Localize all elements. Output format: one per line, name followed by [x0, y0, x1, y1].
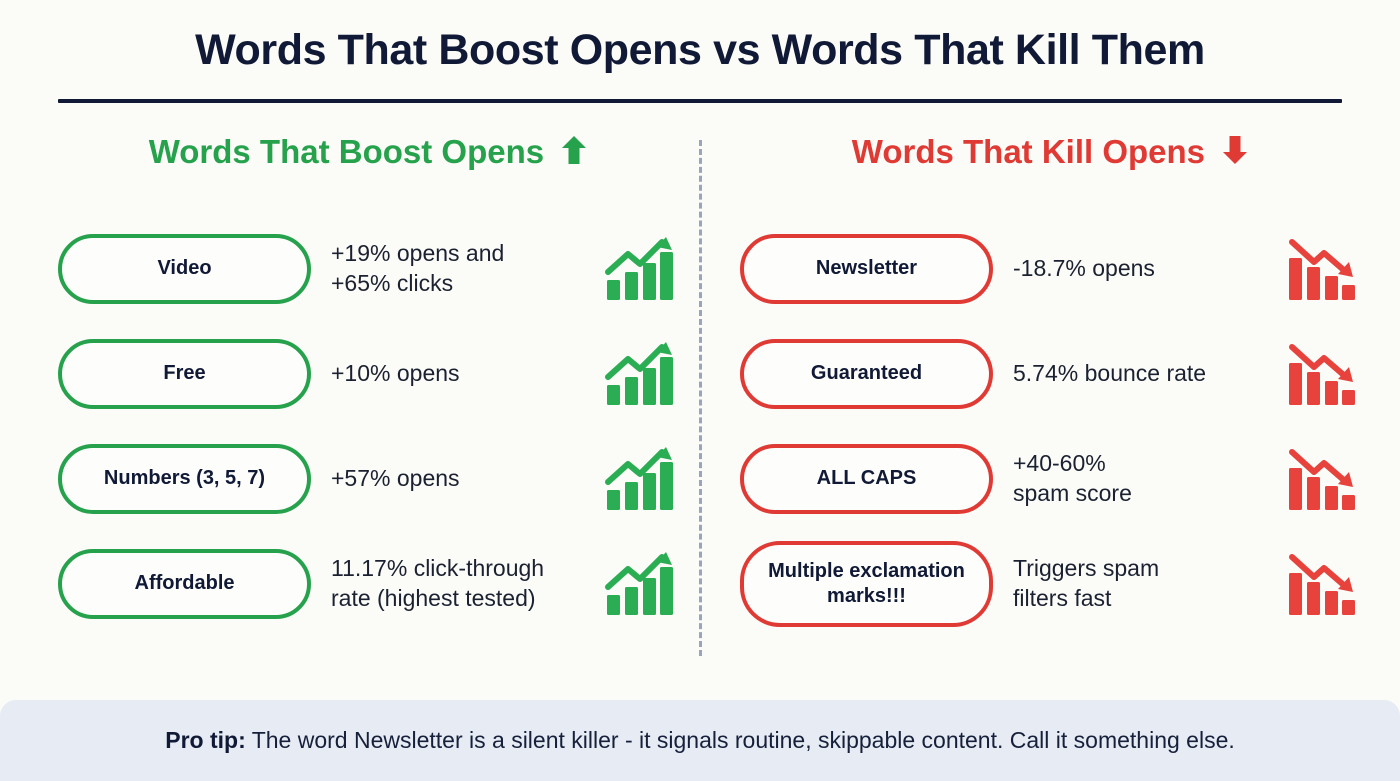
list-item: Numbers (3, 5, 7) +57% opens — [58, 426, 678, 531]
boost-column-heading: Words That Boost Opens — [58, 128, 678, 176]
pro-tip-label: Pro tip: — [165, 727, 246, 753]
pro-tip-body: The word Newsletter is a silent killer -… — [246, 727, 1235, 753]
title-divider — [58, 99, 1342, 103]
word-pill[interactable]: Affordable — [58, 549, 311, 619]
falling-bar-chart-icon — [1282, 442, 1360, 516]
boost-rows: Video +19% opens and +65% clicks Free +1… — [58, 216, 678, 636]
stat-text: +40-60% spam score — [993, 449, 1282, 508]
column-divider — [699, 140, 702, 656]
falling-bar-chart-icon — [1282, 547, 1360, 621]
boost-heading-label: Words That Boost Opens — [149, 133, 544, 170]
kill-heading-label: Words That Kill Opens — [852, 133, 1205, 170]
stat-text: +57% opens — [311, 464, 600, 493]
pro-tip-text: Pro tip: The word Newsletter is a silent… — [165, 727, 1235, 754]
arrow-up-icon — [561, 130, 587, 178]
stat-text: 11.17% click-through rate (highest teste… — [311, 554, 600, 613]
page-title: Words That Boost Opens vs Words That Kil… — [0, 26, 1400, 75]
list-item: Newsletter -18.7% opens — [740, 216, 1360, 321]
stat-text: 5.74% bounce rate — [993, 359, 1282, 388]
list-item: Affordable 11.17% click-through rate (hi… — [58, 531, 678, 636]
kill-rows: Newsletter -18.7% opens Guaranteed 5.74%… — [740, 216, 1360, 636]
boost-column: Words That Boost Opens Video +19% opens … — [58, 128, 678, 176]
list-item: Free +10% opens — [58, 321, 678, 426]
stat-text: Triggers spam filters fast — [993, 554, 1282, 613]
kill-column-heading: Words That Kill Opens — [740, 128, 1360, 176]
falling-bar-chart-icon — [1282, 337, 1360, 411]
kill-column: Words That Kill Opens Newsletter -18.7% … — [740, 128, 1360, 176]
word-pill[interactable]: ALL CAPS — [740, 444, 993, 514]
stat-text: +19% opens and +65% clicks — [311, 239, 600, 298]
list-item: Guaranteed 5.74% bounce rate — [740, 321, 1360, 426]
falling-bar-chart-icon — [1282, 232, 1360, 306]
list-item: Multiple exclamation marks!!! Triggers s… — [740, 531, 1360, 636]
stat-text: -18.7% opens — [993, 254, 1282, 283]
list-item: ALL CAPS +40-60% spam score — [740, 426, 1360, 531]
word-pill[interactable]: Free — [58, 339, 311, 409]
word-pill[interactable]: Numbers (3, 5, 7) — [58, 444, 311, 514]
pro-tip-banner: Pro tip: The word Newsletter is a silent… — [0, 700, 1400, 781]
list-item: Video +19% opens and +65% clicks — [58, 216, 678, 321]
infographic-page: Words That Boost Opens vs Words That Kil… — [0, 0, 1400, 781]
rising-bar-chart-icon — [600, 232, 678, 306]
rising-bar-chart-icon — [600, 547, 678, 621]
word-pill[interactable]: Multiple exclamation marks!!! — [740, 541, 993, 627]
rising-bar-chart-icon — [600, 442, 678, 516]
word-pill[interactable]: Guaranteed — [740, 339, 993, 409]
word-pill[interactable]: Newsletter — [740, 234, 993, 304]
rising-bar-chart-icon — [600, 337, 678, 411]
arrow-down-icon — [1222, 130, 1248, 178]
word-pill[interactable]: Video — [58, 234, 311, 304]
stat-text: +10% opens — [311, 359, 600, 388]
